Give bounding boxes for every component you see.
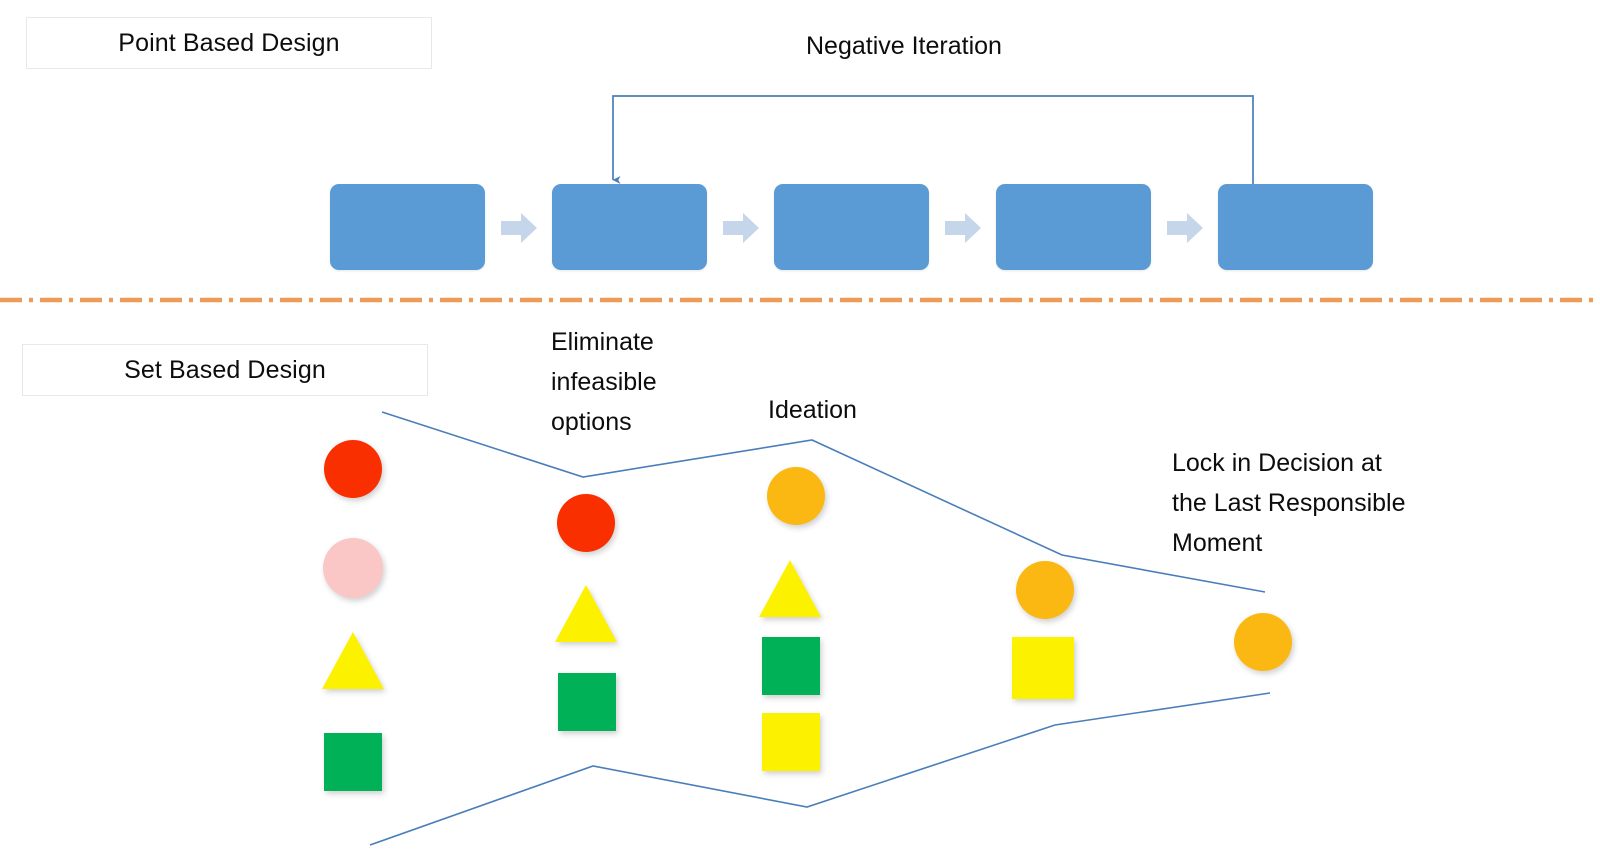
lock-in-decision-label: Lock in Decision at the Last Responsible… <box>1172 443 1472 563</box>
column-3-yellow-square[interactable] <box>762 713 820 771</box>
column-3-green-square[interactable] <box>762 637 820 695</box>
set-based-design-title: Set Based Design <box>22 344 428 396</box>
diagram-canvas: Point Based Design Negative Iteration Se… <box>0 0 1600 858</box>
column-1-yellow-triangle[interactable] <box>322 632 384 689</box>
ideation-label: Ideation <box>768 390 988 430</box>
column-3-amber-circle[interactable] <box>767 467 825 525</box>
process-box-3[interactable] <box>774 184 929 270</box>
eliminate-infeasible-options-label: Eliminate infeasible options <box>551 322 751 442</box>
process-box-5[interactable] <box>1218 184 1373 270</box>
column-2-red-circle[interactable] <box>557 494 615 552</box>
process-box-4[interactable] <box>996 184 1151 270</box>
column-1-green-square[interactable] <box>324 733 382 791</box>
process-box-2[interactable] <box>552 184 707 270</box>
column-5-amber-circle[interactable] <box>1234 613 1292 671</box>
feedback-arrow-path <box>613 96 1253 184</box>
column-4-amber-circle[interactable] <box>1016 561 1074 619</box>
funnel-lower-boundary <box>370 693 1270 845</box>
chevron-arrow-icon-4 <box>1167 213 1203 243</box>
column-1-red-circle[interactable] <box>324 440 382 498</box>
column-3-yellow-triangle[interactable] <box>759 560 821 617</box>
process-box-1[interactable] <box>330 184 485 270</box>
point-based-design-title: Point Based Design <box>26 17 432 69</box>
chevron-arrow-icon-2 <box>723 213 759 243</box>
chevron-arrow-icon-3 <box>945 213 981 243</box>
negative-iteration-label: Negative Iteration <box>806 26 1226 66</box>
column-1-pink-circle[interactable] <box>323 538 383 598</box>
column-2-green-square[interactable] <box>558 673 616 731</box>
column-2-yellow-triangle[interactable] <box>555 585 617 642</box>
chevron-arrow-icon-1 <box>501 213 537 243</box>
column-4-yellow-square[interactable] <box>1012 637 1074 699</box>
